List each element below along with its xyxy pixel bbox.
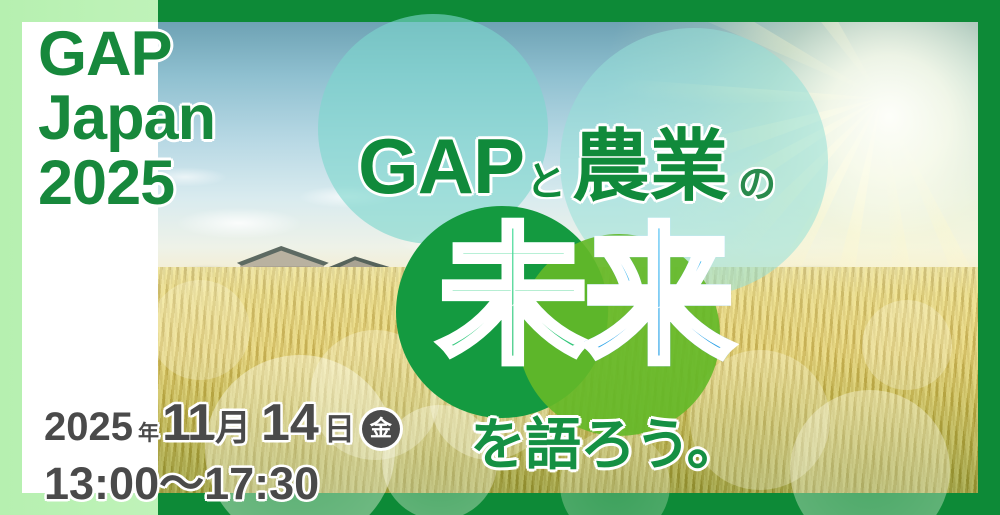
date-day-unit: 日: [324, 414, 355, 447]
date-day: 14: [261, 396, 319, 451]
date-year-unit: 年: [138, 423, 159, 445]
date-month: 11: [162, 396, 215, 451]
event-banner: GAP Japan 2025 GAP と 農業 の 未来 を語ろう。 2025 …: [0, 0, 1000, 515]
event-time: 13:00〜17:30: [44, 460, 474, 508]
date-year: 2025: [44, 406, 133, 448]
brand-line-3: 2025: [38, 153, 298, 213]
date-weekday-badge: 金: [362, 410, 400, 448]
date-month-unit: 月: [215, 409, 251, 447]
event-date-block: 2025 年 11 月 14 日 金 13:00〜17:30: [44, 396, 474, 507]
brand-line-1: GAP: [38, 24, 298, 84]
brand-line-2: Japan: [38, 88, 298, 148]
date-row: 2025 年 11 月 14 日 金: [44, 396, 474, 452]
brand-title: GAP Japan 2025: [38, 24, 298, 213]
